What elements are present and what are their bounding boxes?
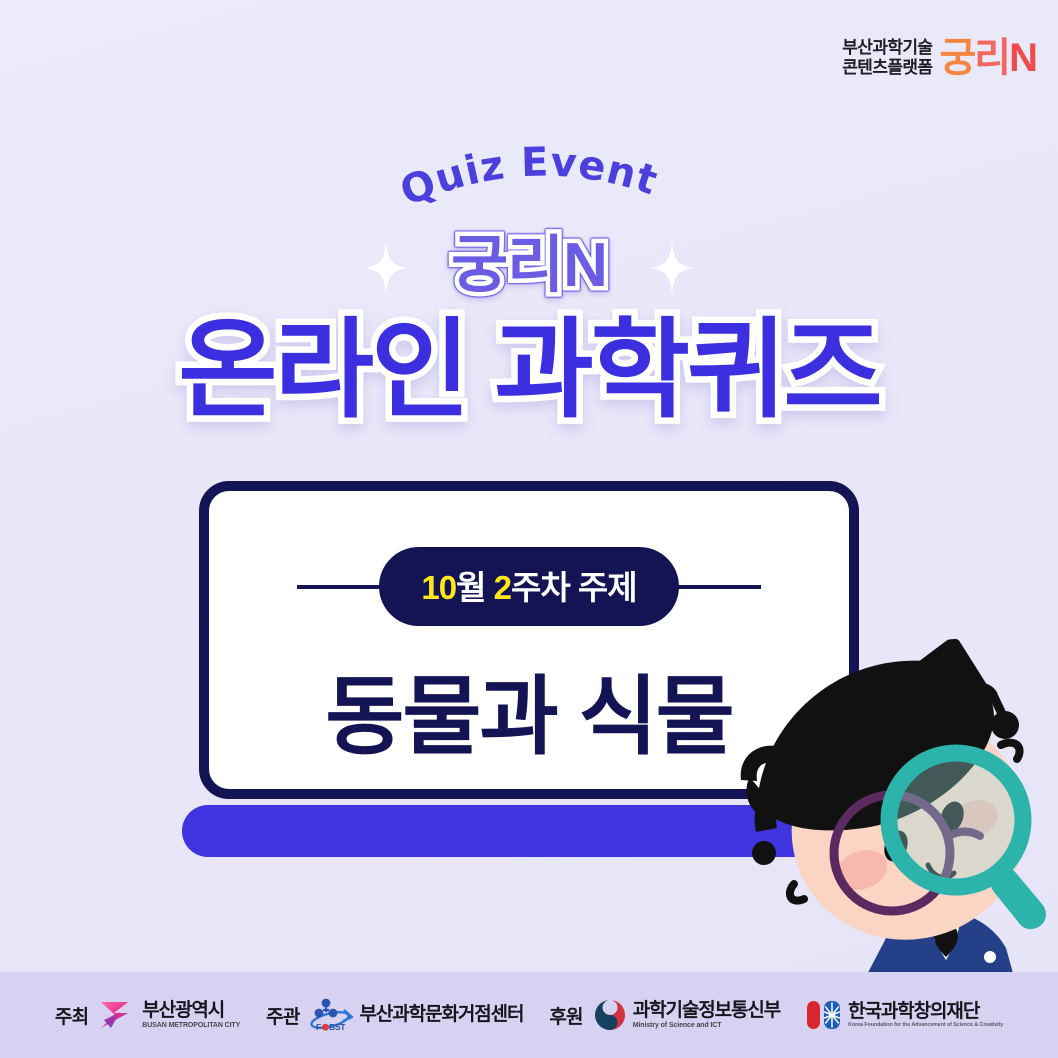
sponsor-name: 과학기술정보통신부 [633, 1000, 780, 1021]
sponsor-footer: 주최 [0, 972, 1058, 1058]
badge-suffix: 주차 주제 [511, 569, 637, 606]
sponsor-role-label: 주최 [55, 1002, 88, 1029]
sponsor-name: 부산광역시 [142, 1000, 224, 1021]
svg-text:BST: BST [329, 1022, 346, 1032]
msit-logo: 과학기술정보통신부 Ministry of Science and ICT [593, 998, 780, 1032]
sponsor-kofac: 한국과학창의재단 Korea Foundation for the Advanc… [806, 998, 1003, 1032]
laptop-base [182, 805, 876, 857]
busan-emblem-icon [98, 998, 136, 1032]
fobst-logo: F BST 부산과학문화거점센터 [310, 998, 524, 1032]
sponsor-text: 과학기술정보통신부 Ministry of Science and ICT [633, 1001, 780, 1030]
kofac-emblem-icon [806, 998, 842, 1032]
sponsor-fobst: 주관 F BST 부산과학문화거점센터 [266, 998, 523, 1032]
sponsor-subtitle: Ministry of Science and ICT [633, 1022, 780, 1029]
sponsor-role-label: 주관 [266, 1002, 299, 1029]
magnifying-glass-icon [889, 753, 1046, 929]
sponsor-role-label: 후원 [549, 1002, 582, 1029]
svg-text:F: F [316, 1022, 321, 1032]
hero-wordmark: 궁리N [445, 231, 613, 305]
eyebrow-quiz-event: Quiz Event [0, 128, 1058, 218]
badge-week-number: 2 [494, 569, 511, 606]
brand-logo: 부산과학기술 콘텐츠플랫폼 궁리N [842, 38, 1036, 78]
badge-month-number: 10 [421, 569, 456, 606]
brand-mark-char-3: N [1009, 38, 1036, 78]
brand-korean-text: 부산과학기술 콘텐츠플랫폼 [842, 38, 932, 78]
laptop-illustration: 10월 2주차 주제 동물과 식물 [199, 481, 859, 857]
sparkle-icon [651, 242, 693, 294]
brand-mark-char-2: 리 [974, 38, 1009, 78]
busan-city-logo: 부산광역시 BUSAN METROPOLITAN CITY [98, 998, 240, 1032]
poster-canvas: 부산과학기술 콘텐츠플랫폼 궁리N Quiz Event 궁리N 온라인 과학퀴… [0, 0, 1058, 1058]
brand-mark-char-1: 궁 [939, 38, 974, 78]
taegeuk-icon [593, 998, 627, 1032]
sponsor-msit: 후원 과학기술정보통신부 Ministry of Science and ICT [549, 998, 780, 1032]
sponsor-text: 부산광역시 BUSAN METROPOLITAN CITY [142, 1001, 240, 1030]
sponsor-name: 부산과학문화거점센터 [360, 1004, 524, 1025]
week-badge-row: 10월 2주차 주제 [209, 547, 849, 626]
sponsor-text: 한국과학창의재단 Korea Foundation for the Advanc… [848, 1002, 1003, 1029]
topic-text: 동물과 식물 [209, 646, 849, 771]
sponsor-subtitle: Korea Foundation for the Advancement of … [848, 1023, 1003, 1029]
sponsor-subtitle: BUSAN METROPOLITAN CITY [142, 1022, 240, 1029]
page-title: 온라인 과학퀴즈 [0, 310, 1058, 431]
kofac-logo: 한국과학창의재단 Korea Foundation for the Advanc… [806, 998, 1003, 1032]
laptop-screen: 10월 2주차 주제 동물과 식물 [199, 481, 859, 799]
brand-line-2: 콘텐츠플랫폼 [842, 58, 932, 78]
eyebrow-text: Quiz Event [394, 139, 663, 215]
sponsor-busan-city: 주최 [55, 998, 240, 1032]
sponsor-name: 한국과학창의재단 [848, 1001, 979, 1022]
week-badge: 10월 2주차 주제 [379, 547, 678, 626]
brand-line-1: 부산과학기술 [842, 38, 932, 58]
sponsor-text: 부산과학문화거점센터 [360, 1005, 524, 1025]
badge-rule-right [665, 585, 761, 589]
sparkle-icon [365, 242, 407, 294]
brand-wordmark: 궁리N [939, 38, 1036, 78]
fobst-molecule-icon: F BST [310, 998, 354, 1032]
badge-month-unit: 월 [456, 569, 494, 606]
wordmark-row: 궁리N [0, 222, 1058, 314]
